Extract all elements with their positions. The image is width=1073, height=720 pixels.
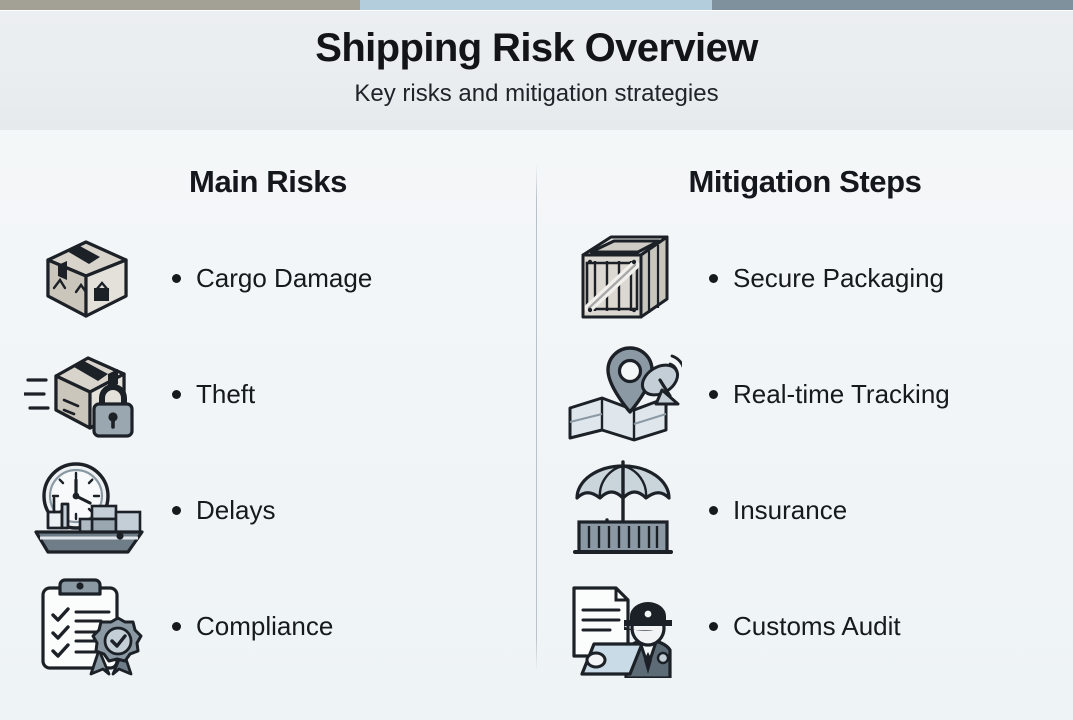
accent-segment-taupe	[0, 0, 360, 10]
list-item-label-wrap: Customs Audit	[709, 611, 901, 642]
mitigation-list: Secure Packaging	[537, 220, 1073, 684]
list-item[interactable]: Theft	[0, 336, 536, 452]
list-item-label: Insurance	[733, 495, 847, 526]
list-item-label: Compliance	[196, 611, 333, 642]
bullet-icon	[172, 506, 181, 515]
bullet-icon	[709, 506, 718, 515]
list-item-label: Real-time Tracking	[733, 379, 950, 410]
list-item[interactable]: Cargo Damage	[0, 220, 536, 336]
list-item-label-wrap: Cargo Damage	[172, 263, 372, 294]
list-item-label: Theft	[196, 379, 255, 410]
bullet-icon	[172, 390, 181, 399]
list-item-label-wrap: Theft	[172, 379, 255, 410]
content-area: Main Risks	[0, 130, 1073, 720]
list-item-label-wrap: Insurance	[709, 495, 847, 526]
accent-segment-light-blue	[360, 0, 712, 10]
header-band: Shipping Risk Overview Key risks and mit…	[0, 10, 1073, 130]
bullet-icon	[172, 274, 181, 283]
customs-officer-documents-icon	[537, 576, 709, 676]
column-title-main-risks: Main Risks	[0, 164, 536, 200]
clipboard-checklist-award-icon	[0, 576, 172, 676]
bullet-icon	[709, 622, 718, 631]
list-item-label-wrap: Delays	[172, 495, 275, 526]
list-item-label: Customs Audit	[733, 611, 901, 642]
column-main-risks: Main Risks	[0, 130, 536, 720]
list-item[interactable]: Compliance	[0, 568, 536, 684]
bullet-icon	[709, 274, 718, 283]
list-item[interactable]: Delays	[0, 452, 536, 568]
risk-list: Cargo Damage	[0, 220, 536, 684]
list-item-label: Delays	[196, 495, 275, 526]
box-with-padlock-icon	[0, 344, 172, 444]
accent-bar	[0, 0, 1073, 10]
list-item[interactable]: Customs Audit	[537, 568, 1073, 684]
bullet-icon	[709, 390, 718, 399]
accent-segment-slate	[712, 0, 1073, 10]
list-item[interactable]: Secure Packaging	[537, 220, 1073, 336]
page-title: Shipping Risk Overview	[0, 26, 1073, 71]
list-item-label: Secure Packaging	[733, 263, 944, 294]
wooden-crate-icon	[537, 228, 709, 328]
list-item-label-wrap: Secure Packaging	[709, 263, 944, 294]
column-title-mitigation-steps: Mitigation Steps	[537, 164, 1073, 200]
list-item-label: Cargo Damage	[196, 263, 372, 294]
list-item[interactable]: Real-time Tracking	[537, 336, 1073, 452]
page-subtitle: Key risks and mitigation strategies	[0, 80, 1073, 108]
list-item-label-wrap: Compliance	[172, 611, 333, 642]
list-item[interactable]: Insurance	[537, 452, 1073, 568]
column-mitigation-steps: Mitigation Steps	[537, 130, 1073, 720]
infographic-page: Shipping Risk Overview Key risks and mit…	[0, 0, 1073, 720]
umbrella-over-container-icon	[537, 460, 709, 560]
bullet-icon	[172, 622, 181, 631]
clock-and-cargo-ship-icon	[0, 460, 172, 560]
map-pin-satellite-icon	[537, 344, 709, 444]
damaged-box-icon	[0, 228, 172, 328]
list-item-label-wrap: Real-time Tracking	[709, 379, 950, 410]
